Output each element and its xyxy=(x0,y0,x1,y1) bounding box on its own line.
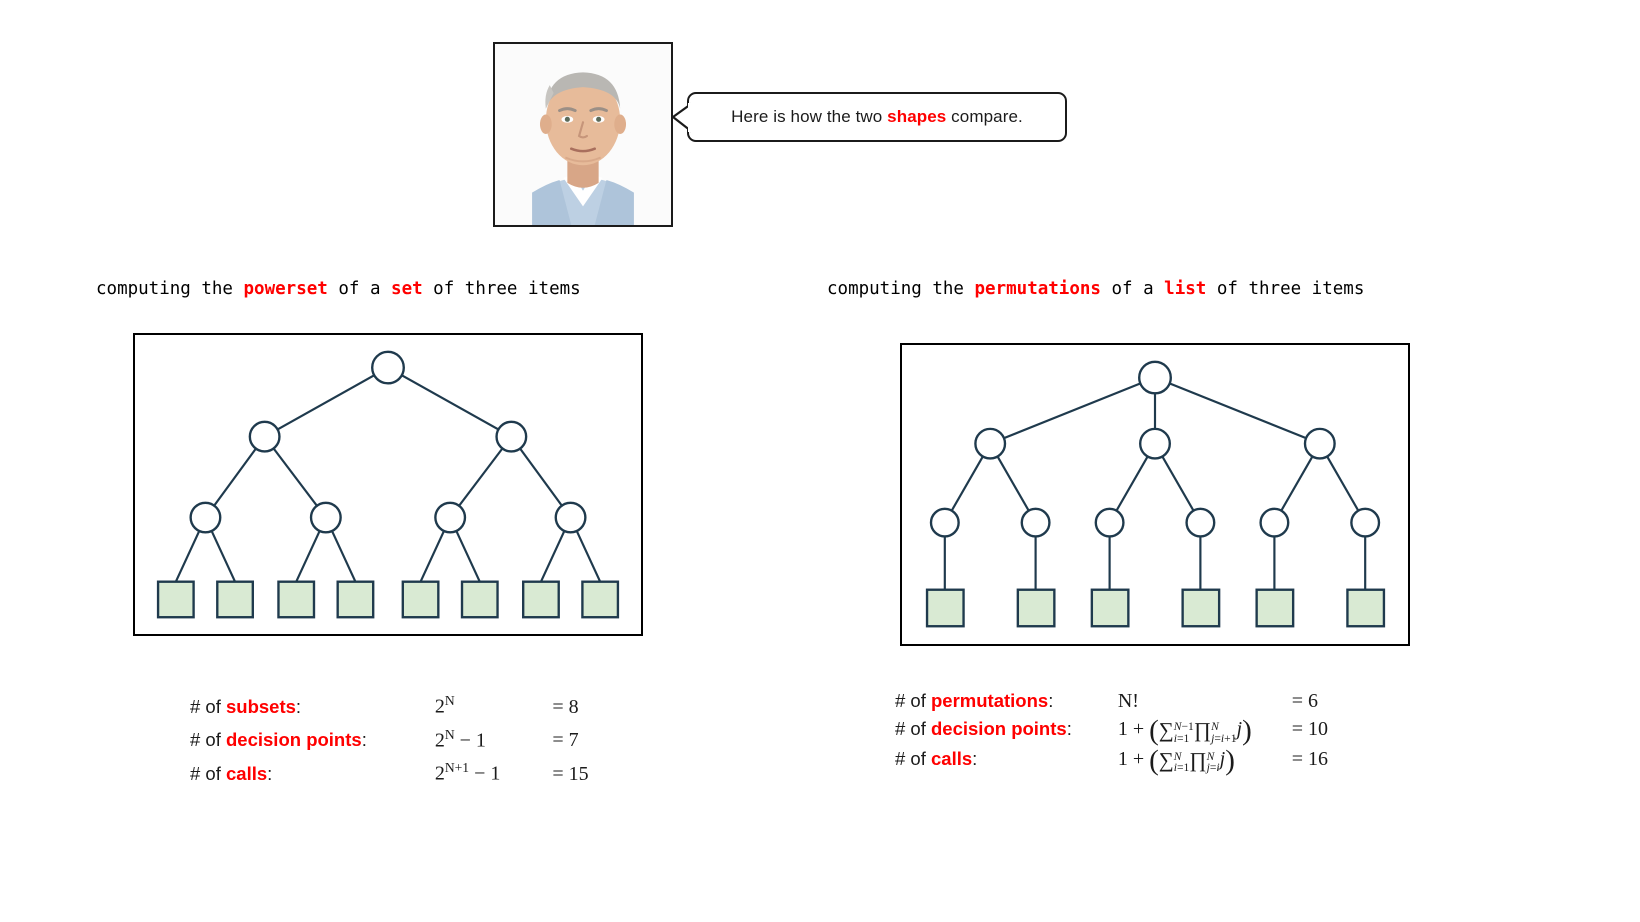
permutations-tree-frame xyxy=(900,343,1410,646)
label-term: decision points xyxy=(931,718,1067,739)
bubble-suffix: compare. xyxy=(946,107,1023,126)
row-value: = 8 xyxy=(552,687,588,721)
row-label: # of subsets: xyxy=(190,687,435,721)
powerset-tree-frame xyxy=(133,333,643,636)
label-prefix: # of xyxy=(190,729,226,750)
label-prefix: # of xyxy=(190,763,226,784)
table-row: # of decision points: 1 + (∑N−1i=1∏Nj=i+… xyxy=(895,715,1328,745)
heading-middle: of a xyxy=(1101,279,1164,299)
label-term: calls xyxy=(931,748,972,769)
heading-term-set: set xyxy=(391,279,423,299)
row-expression: 1 + (∑Ni=1∏Nj=ij) xyxy=(1118,745,1292,775)
row-expression: 2N+1 − 1 xyxy=(435,754,553,788)
label-term: subsets xyxy=(226,696,296,717)
label-term: calls xyxy=(226,763,267,784)
label-term: permutations xyxy=(931,690,1048,711)
left-column-heading: computing the powerset of a set of three… xyxy=(96,279,581,299)
row-value: = 10 xyxy=(1292,715,1328,745)
speech-bubble: Here is how the two shapes compare. xyxy=(687,92,1067,142)
label-suffix: : xyxy=(267,763,272,784)
row-value: = 7 xyxy=(552,721,588,755)
tree-internal-nodes xyxy=(931,362,1379,537)
heading-term-list: list xyxy=(1164,279,1206,299)
row-expression: 1 + (∑N−1i=1∏Nj=i+1j) xyxy=(1118,715,1292,745)
table-row: # of calls: 2N+1 − 1 = 15 xyxy=(190,754,589,788)
row-label: # of decision points: xyxy=(895,715,1118,745)
row-expression: N! xyxy=(1118,687,1292,715)
row-expression: 2N xyxy=(435,687,553,721)
label-term: decision points xyxy=(226,729,362,750)
speaker-photo xyxy=(493,42,673,227)
heading-suffix: of three items xyxy=(1206,279,1364,299)
row-label: # of permutations: xyxy=(895,687,1118,715)
speech-bubble-tail xyxy=(671,102,691,134)
row-value: = 16 xyxy=(1292,745,1328,775)
heading-middle: of a xyxy=(328,279,391,299)
table-row: # of decision points: 2N − 1 = 7 xyxy=(190,721,589,755)
label-prefix: # of xyxy=(895,718,931,739)
permutations-formula-table: # of permutations: N! = 6 # of decision … xyxy=(895,687,1328,774)
heading-term-permutations: permutations xyxy=(975,279,1101,299)
label-suffix: : xyxy=(362,729,367,750)
label-prefix: # of xyxy=(895,690,931,711)
powerset-formula-table: # of subsets: 2N = 8 # of decision point… xyxy=(190,687,589,788)
row-label: # of calls: xyxy=(190,754,435,788)
heading-term-powerset: powerset xyxy=(244,279,328,299)
heading-prefix: computing the xyxy=(96,279,244,299)
right-column-heading: computing the permutations of a list of … xyxy=(827,279,1364,299)
bubble-highlight: shapes xyxy=(887,107,946,126)
row-value: = 6 xyxy=(1292,687,1328,715)
permutations-recursion-tree xyxy=(902,345,1408,644)
row-label: # of calls: xyxy=(895,745,1118,775)
bubble-prefix: Here is how the two xyxy=(731,107,887,126)
tree-internal-nodes xyxy=(191,352,586,533)
label-suffix: : xyxy=(1067,718,1072,739)
formula-table: # of subsets: 2N = 8 # of decision point… xyxy=(190,687,589,788)
tree-leaf-squares xyxy=(927,590,1384,627)
table-row: # of permutations: N! = 6 xyxy=(895,687,1328,715)
label-suffix: : xyxy=(296,696,301,717)
headshot-illustration xyxy=(495,44,671,225)
label-suffix: : xyxy=(972,748,977,769)
speech-bubble-text: Here is how the two shapes compare. xyxy=(731,107,1023,127)
heading-prefix: computing the xyxy=(827,279,975,299)
formula-table: # of permutations: N! = 6 # of decision … xyxy=(895,687,1328,774)
table-row: # of subsets: 2N = 8 xyxy=(190,687,589,721)
label-prefix: # of xyxy=(190,696,226,717)
row-label: # of decision points: xyxy=(190,721,435,755)
row-value: = 15 xyxy=(552,754,588,788)
label-suffix: : xyxy=(1048,690,1053,711)
powerset-recursion-tree xyxy=(135,335,641,634)
row-expression: 2N − 1 xyxy=(435,721,553,755)
heading-suffix: of three items xyxy=(423,279,581,299)
table-row: # of calls: 1 + (∑Ni=1∏Nj=ij) = 16 xyxy=(895,745,1328,775)
tree-leaf-squares xyxy=(158,582,618,618)
label-prefix: # of xyxy=(895,748,931,769)
